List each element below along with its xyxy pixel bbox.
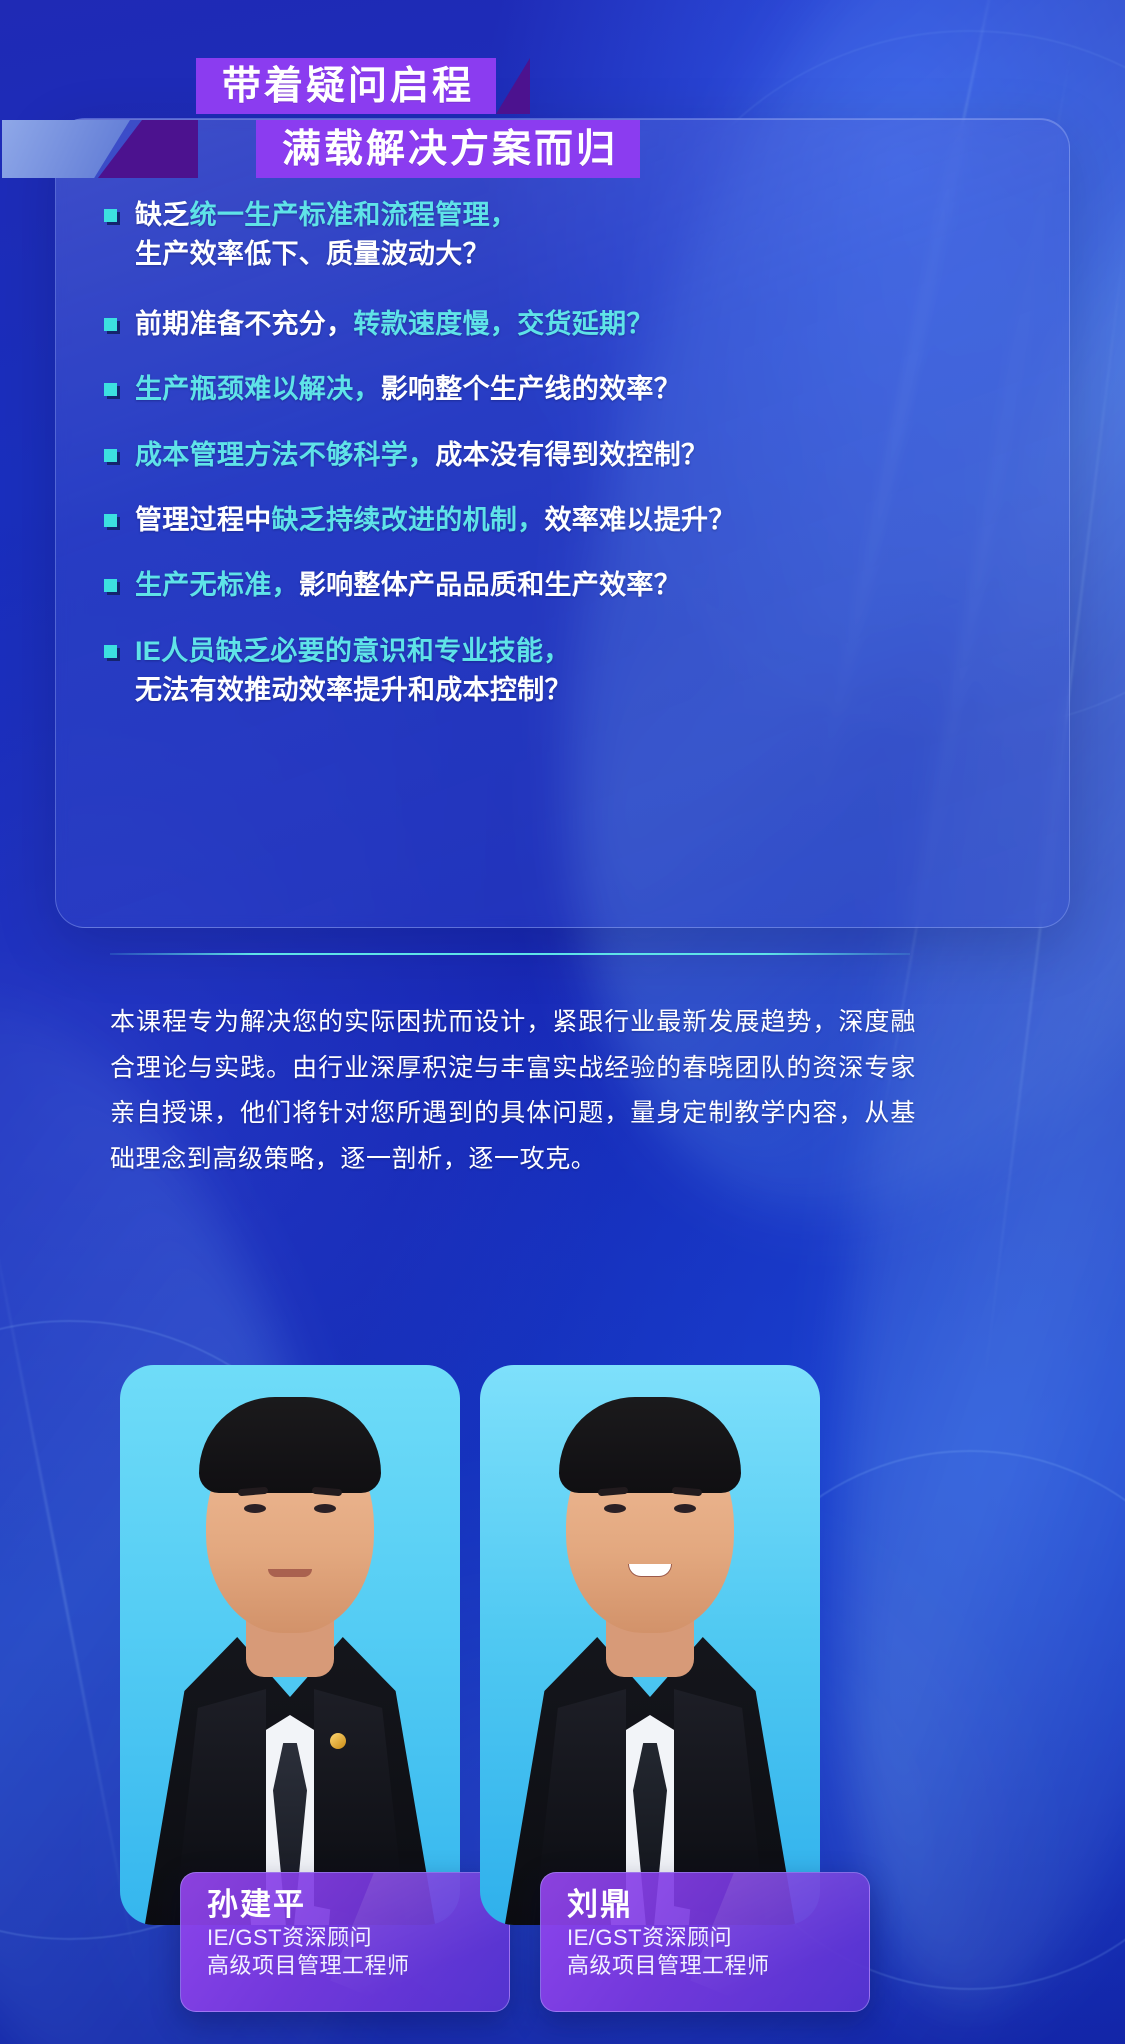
- pain-point-line: 生产效率低下、质量波动大？: [135, 235, 517, 274]
- speaker-2-portrait: [480, 1365, 820, 1925]
- pain-point-text: 成本管理方法不够科学，成本没有得到效控制？: [135, 436, 708, 475]
- headline-line-2: 满载解决方案而归: [282, 130, 618, 169]
- pain-point-item: IE人员缺乏必要的意识和专业技能，无法有效推动效率提升和成本控制？: [104, 632, 924, 711]
- speaker-1-portrait: [120, 1365, 460, 1925]
- pain-point-line: 缺乏统一生产标准和流程管理，: [135, 196, 517, 235]
- headline-banner-2-tail: [2, 120, 256, 178]
- mouth-shape: [268, 1569, 312, 1577]
- speaker-2-name: 刘鼎: [567, 1887, 869, 1924]
- lapel-pin-icon: [330, 1733, 346, 1749]
- pain-point-line: 成本管理方法不够科学，成本没有得到效控制？: [135, 436, 708, 475]
- speaker-2-title-line-1: IE/GST资深顾问: [567, 1924, 869, 1952]
- eye-left: [244, 1504, 266, 1513]
- headline-banner-1-bar: 带着疑问启程: [196, 58, 496, 114]
- square-bullet-icon: [104, 318, 117, 331]
- highlighted-phrase: 生产瓶颈难以解决，: [135, 374, 381, 404]
- course-description: 本课程专为解决您的实际困扰而设计，紧跟行业最新发展趋势，深度融合理论与实践。由行…: [110, 1000, 916, 1182]
- speaker-1-title-line-1: IE/GST资深顾问: [207, 1924, 509, 1952]
- square-bullet-icon: [104, 449, 117, 462]
- plain-phrase: 前期准备不充分，: [135, 309, 353, 339]
- pain-point-item: 前期准备不充分，转款速度慢，交货延期？: [104, 305, 924, 344]
- eye-right: [674, 1504, 696, 1513]
- pain-point-line: 生产无标准，影响整体产品品质和生产效率？: [135, 566, 681, 605]
- pain-point-item: 管理过程中缺乏持续改进的机制，效率难以提升？: [104, 501, 924, 540]
- pain-point-line: 管理过程中缺乏持续改进的机制，效率难以提升？: [135, 501, 736, 540]
- headline-banner-1: 带着疑问启程: [196, 58, 530, 114]
- pain-point-line: 无法有效推动效率提升和成本控制？: [135, 671, 572, 710]
- pain-point-line: 前期准备不充分，转款速度慢，交货延期？: [135, 305, 654, 344]
- pain-point-item: 缺乏统一生产标准和流程管理，生产效率低下、质量波动大？: [104, 196, 924, 275]
- pain-point-item: 成本管理方法不够科学，成本没有得到效控制？: [104, 436, 924, 475]
- headline-banner-2: 满载解决方案而归: [256, 120, 640, 178]
- speaker-2-photo-plate: [480, 1365, 820, 1925]
- eye-left: [604, 1504, 626, 1513]
- headline-line-1: 带着疑问启程: [222, 67, 474, 106]
- eye-right: [314, 1504, 336, 1513]
- speaker-2-title-line-2: 高级项目管理工程师: [567, 1952, 869, 1980]
- headline-banner-2-bar: 满载解决方案而归: [256, 120, 640, 178]
- pain-point-text: IE人员缺乏必要的意识和专业技能，无法有效推动效率提升和成本控制？: [135, 632, 572, 711]
- pain-point-text: 生产瓶颈难以解决，影响整个生产线的效率？: [135, 370, 681, 409]
- headline-group: 带着疑问启程 满载解决方案而归: [0, 0, 1125, 210]
- hair-shape: [559, 1397, 741, 1493]
- pain-point-text: 缺乏统一生产标准和流程管理，生产效率低下、质量波动大？: [135, 196, 517, 275]
- highlighted-phrase: 统一生产标准和流程管理，: [190, 200, 518, 230]
- highlighted-phrase: 转款速度慢，交货延期？: [353, 309, 653, 339]
- square-bullet-icon: [104, 579, 117, 592]
- pain-point-item: 生产瓶颈难以解决，影响整个生产线的效率？: [104, 370, 924, 409]
- highlighted-phrase: 缺乏持续改进的机制，: [272, 505, 545, 535]
- speaker-1-photo-plate: [120, 1365, 460, 1925]
- pain-point-list: 缺乏统一生产标准和流程管理，生产效率低下、质量波动大？前期准备不充分，转款速度慢…: [104, 196, 924, 741]
- speaker-card-2[interactable]: 刘鼎 IE/GST资深顾问 高级项目管理工程师: [480, 1250, 870, 2044]
- speaker-1-title-line-2: 高级项目管理工程师: [207, 1952, 509, 1980]
- square-bullet-icon: [104, 645, 117, 658]
- plain-phrase: 影响整个生产线的效率？: [381, 374, 681, 404]
- plain-phrase: 管理过程中: [135, 505, 272, 535]
- plain-phrase: 无法有效推动效率提升和成本控制？: [135, 675, 572, 705]
- pain-point-text: 生产无标准，影响整体产品品质和生产效率？: [135, 566, 681, 605]
- speaker-2-name-card: 刘鼎 IE/GST资深顾问 高级项目管理工程师: [540, 1872, 870, 2012]
- square-bullet-icon: [104, 209, 117, 222]
- plain-phrase: 影响整体产品品质和生产效率？: [299, 570, 681, 600]
- plain-phrase: 效率难以提升？: [545, 505, 736, 535]
- plain-phrase: 成本没有得到效控制？: [435, 440, 708, 470]
- square-bullet-icon: [104, 383, 117, 396]
- highlighted-phrase: IE人员缺乏必要的意识和专业技能，: [135, 636, 571, 666]
- pain-point-text: 管理过程中缺乏持续改进的机制，效率难以提升？: [135, 501, 736, 540]
- mouth-shape: [628, 1564, 672, 1577]
- highlighted-phrase: 成本管理方法不够科学，: [135, 440, 435, 470]
- plain-phrase: 缺乏: [135, 200, 190, 230]
- speaker-1-name: 孙建平: [207, 1887, 509, 1924]
- pain-point-text: 前期准备不充分，转款速度慢，交货延期？: [135, 305, 654, 344]
- pain-point-line: 生产瓶颈难以解决，影响整个生产线的效率？: [135, 370, 681, 409]
- plain-phrase: 生产效率低下、质量波动大？: [135, 239, 490, 269]
- speaker-group: 孙建平 IE/GST资深顾问 高级项目管理工程师: [0, 1250, 1125, 2044]
- pain-point-item: 生产无标准，影响整体产品品质和生产效率？: [104, 566, 924, 605]
- headline-banner-1-fold: [496, 58, 530, 114]
- hair-shape: [199, 1397, 381, 1493]
- speaker-card-1[interactable]: 孙建平 IE/GST资深顾问 高级项目管理工程师: [120, 1250, 510, 2044]
- pain-point-line: IE人员缺乏必要的意识和专业技能，: [135, 632, 572, 671]
- section-divider: [110, 953, 910, 955]
- speaker-1-name-card: 孙建平 IE/GST资深顾问 高级项目管理工程师: [180, 1872, 510, 2012]
- square-bullet-icon: [104, 514, 117, 527]
- highlighted-phrase: 生产无标准，: [135, 570, 299, 600]
